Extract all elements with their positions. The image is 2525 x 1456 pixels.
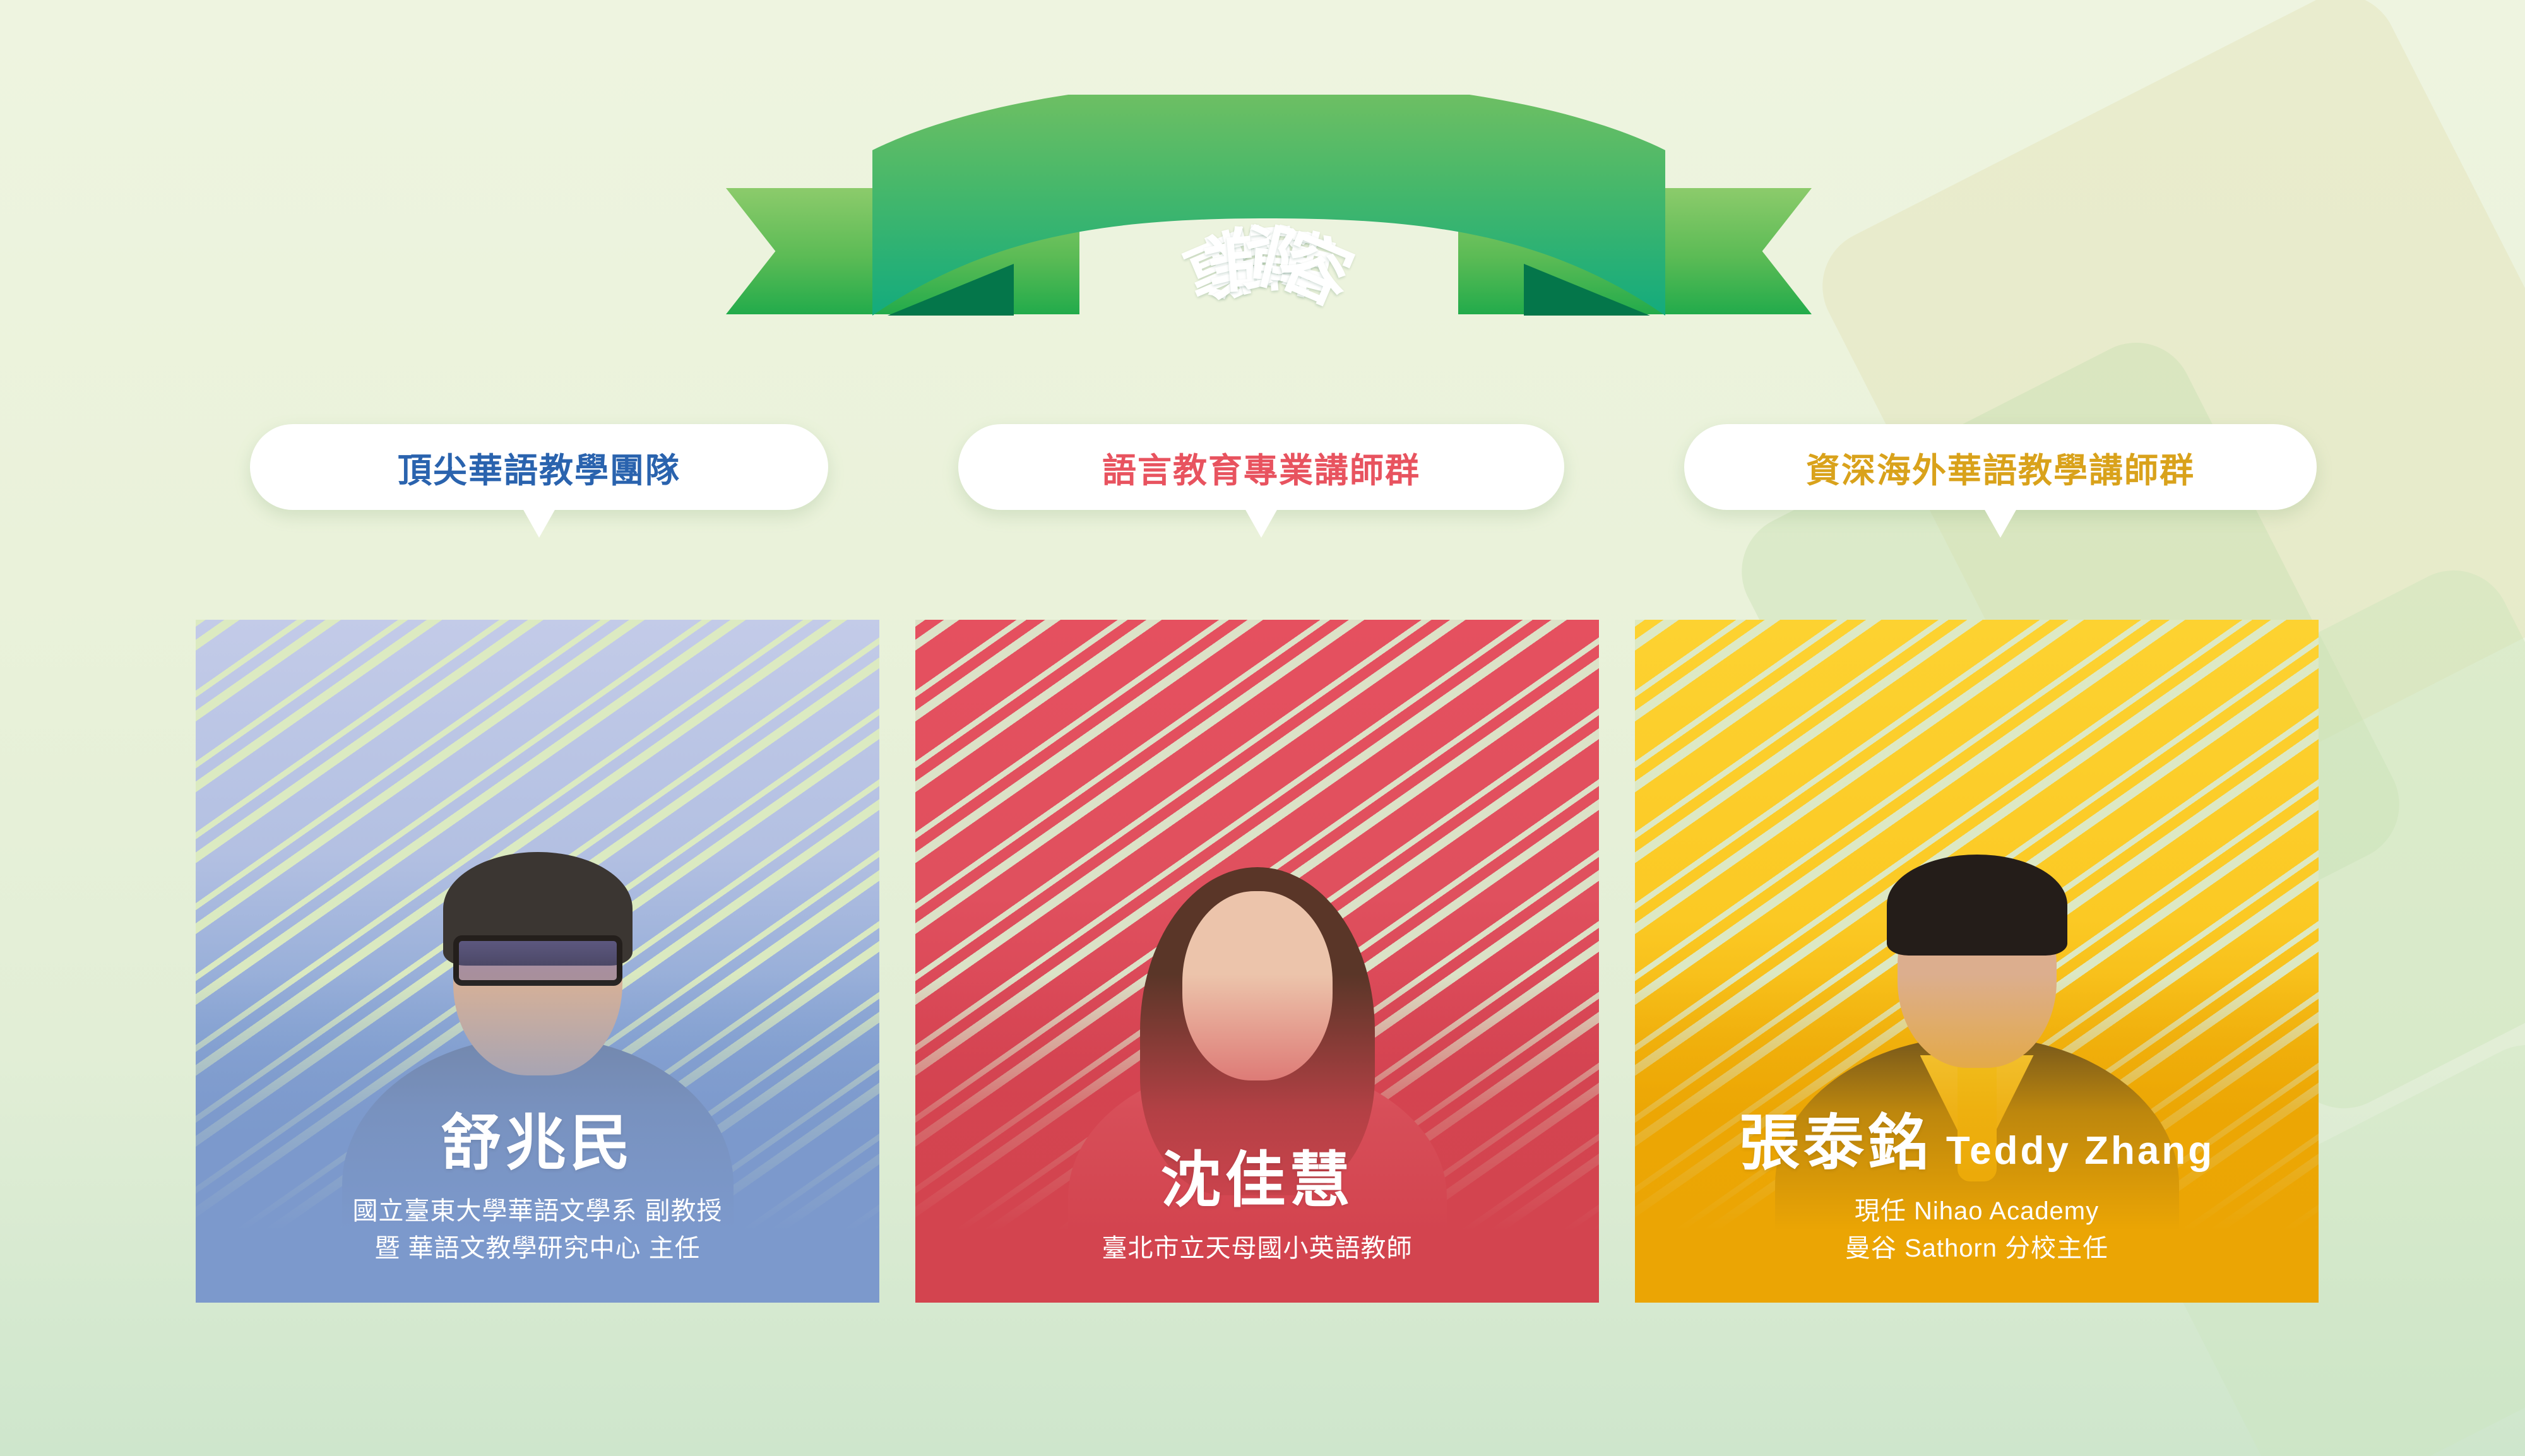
bubble-team-1: 頂尖華語教學團隊: [250, 424, 828, 510]
teacher-card[interactable]: 舒兆民 國立臺東大學華語文學系 副教授 暨 華語文教學研究中心 主任: [196, 620, 879, 1303]
banner-title: 專業師資陣容: [872, 95, 1665, 316]
teacher-name-cn: 張泰銘: [1739, 1113, 1932, 1174]
teacher-name-en: Teddy Zhang: [1946, 1132, 2214, 1171]
bubble-team-3: 資深海外華語教學講師群: [1684, 424, 2317, 510]
teacher-name-line: 沈佳慧: [915, 1151, 1599, 1211]
bubble-label-1: 頂尖華語教學團隊: [398, 442, 680, 492]
ribbon-banner: 專業師資陣容: [726, 95, 1812, 360]
teacher-name-line: 舒兆民: [196, 1113, 879, 1174]
teacher-role-line-1: 臺北市立天母國小英語教師: [915, 1230, 1599, 1267]
bubble-team-2: 語言教育專業講師群: [958, 424, 1564, 510]
teacher-role-line-1: 現任 Nihao Academy: [1635, 1193, 2319, 1230]
teacher-info: 舒兆民 國立臺東大學華語文學系 副教授 暨 華語文教學研究中心 主任: [196, 1113, 879, 1267]
portrait-hair: [1887, 855, 2067, 956]
teacher-info: 沈佳慧 臺北市立天母國小英語教師: [915, 1151, 1599, 1267]
teacher-name-cn: 沈佳慧: [1161, 1151, 1354, 1211]
teacher-name-line: 張泰銘 Teddy Zhang: [1635, 1113, 2319, 1174]
bubble-label-2: 語言教育專業講師群: [1102, 442, 1420, 492]
bubble-label-3: 資深海外華語教學講師群: [1806, 442, 2195, 492]
teacher-role-line-2: 暨 華語文教學研究中心 主任: [196, 1230, 879, 1267]
teacher-role-line-1: 國立臺東大學華語文學系 副教授: [196, 1193, 879, 1230]
teacher-info: 張泰銘 Teddy Zhang 現任 Nihao Academy 曼谷 Sath…: [1635, 1113, 2319, 1267]
teacher-role-line-2: 曼谷 Sathorn 分校主任: [1635, 1230, 2319, 1267]
teacher-name-cn: 舒兆民: [441, 1113, 634, 1174]
teacher-card[interactable]: 張泰銘 Teddy Zhang 現任 Nihao Academy 曼谷 Sath…: [1635, 620, 2319, 1303]
teacher-card[interactable]: 沈佳慧 臺北市立天母國小英語教師: [915, 620, 1599, 1303]
